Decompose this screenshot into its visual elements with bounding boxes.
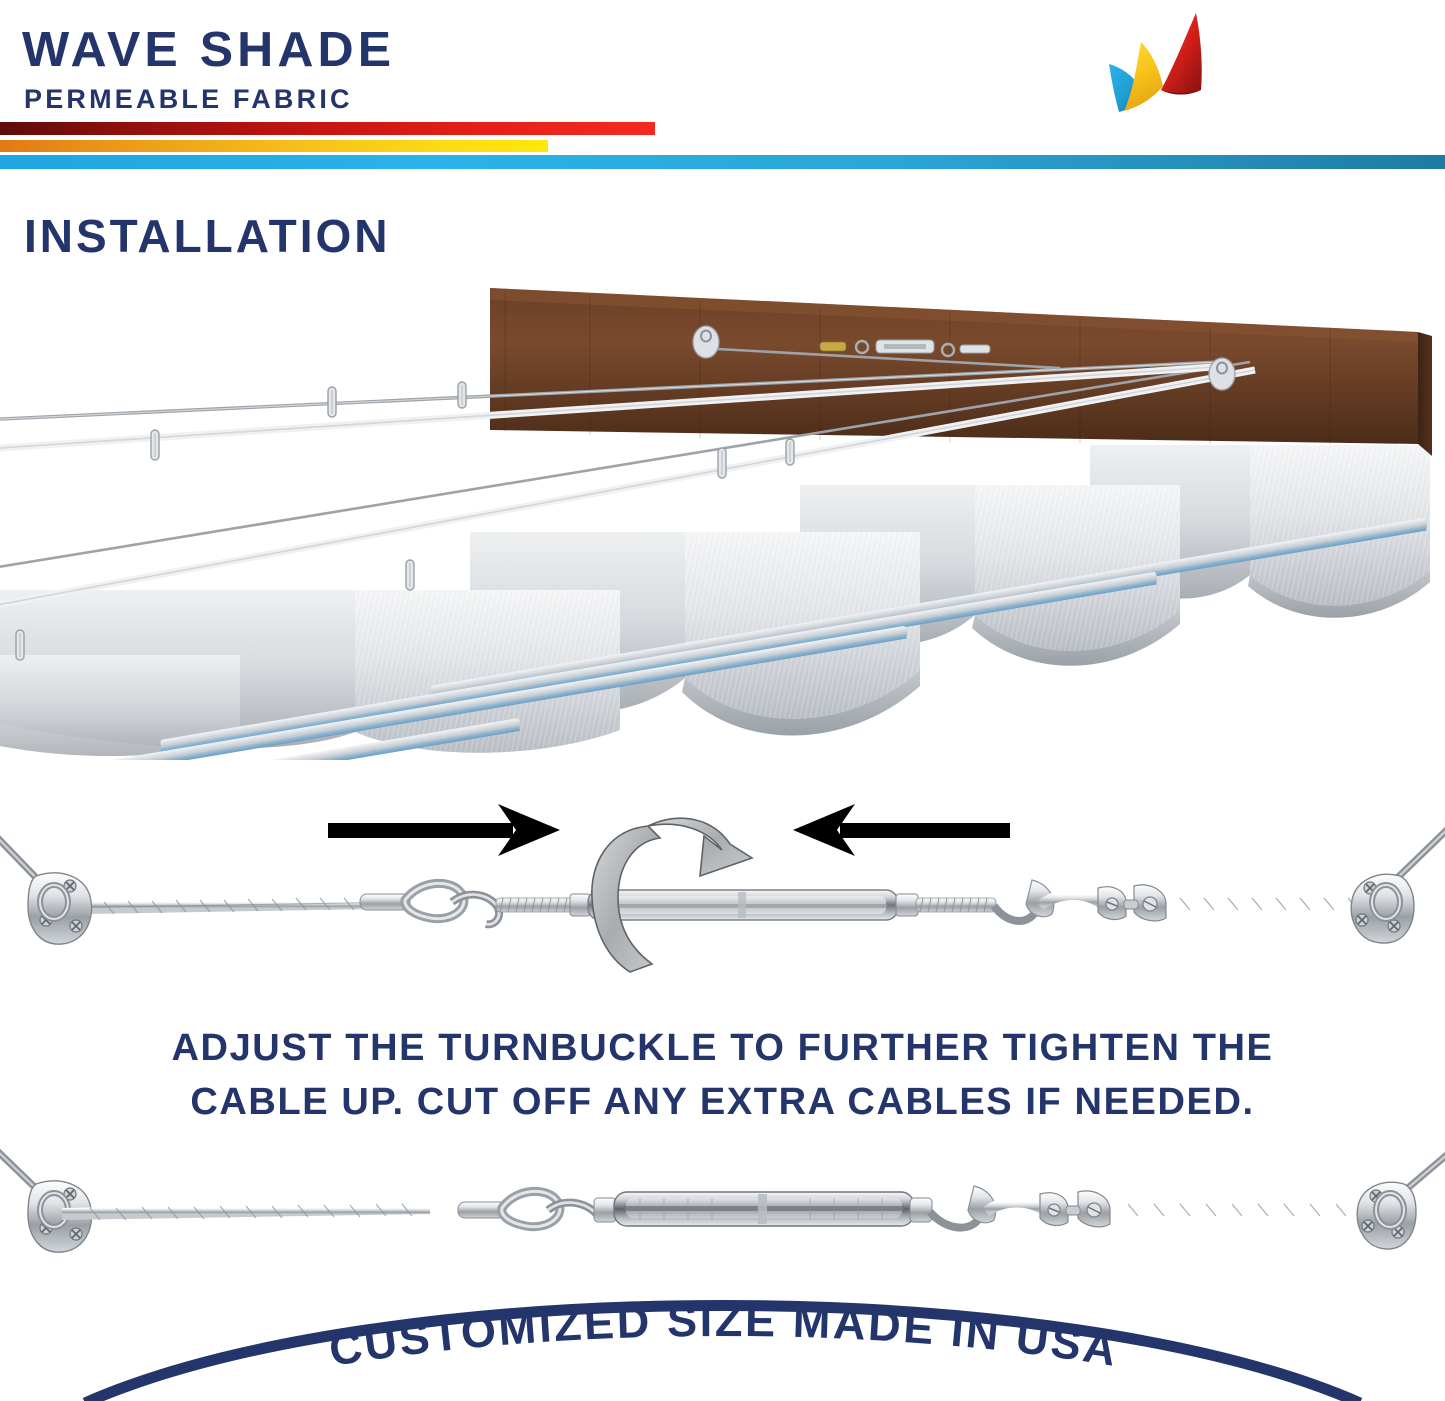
threaded-rod [896,894,996,916]
tension-arrow-right [328,804,560,856]
instruction-text: ADJUST THE TURNBUCKLE TO FURTHER TIGHTEN… [0,1022,1445,1130]
threaded-rod [496,894,590,916]
instruction-line-1: ADJUST THE TURNBUCKLE TO FURTHER TIGHTEN… [0,1022,1445,1076]
turnbuckle-body [588,890,898,920]
wire-rope-clip [1098,885,1166,921]
hex-nut [594,1198,616,1222]
eye-pad-mount [693,326,719,358]
steel-cable [60,897,400,914]
wave-sail-logo-icon [1093,8,1218,136]
accent-bar-blue [0,155,1445,169]
steel-cable [62,1204,430,1220]
eye-pad-mount-left [28,873,92,944]
turnbuckle-body [614,1192,914,1226]
brand-title: WAVE SHADE [22,26,395,75]
eye-pad-mount-right [1357,1182,1416,1249]
steel-cable [0,1144,1445,1198]
steel-cable [986,1202,1044,1212]
footer-arc-text: CUSTOMIZED SIZE MADE IN USA [326,1295,1123,1376]
footer-arc-badge: CUSTOMIZED SIZE MADE IN USA [0,1285,1445,1401]
wire-rope-clip [1040,1191,1110,1227]
wooden-mounting-beam [490,288,1432,456]
accent-bar-red [0,122,655,135]
brand-subtitle: PERMEABLE FABRIC [24,84,353,115]
accent-bar-yellow [0,140,548,152]
steel-cable [1110,1204,1386,1216]
hex-nut [910,1198,932,1222]
wave-shade-installed-render [0,270,1445,760]
turnbuckle-tension-diagram [0,780,1445,1000]
eye-pad-mount [1209,358,1235,390]
eye-pad-mount-right [1351,874,1414,943]
page-title: INSTALLATION [24,209,390,263]
tightened-cable-assembly-diagram [0,1140,1445,1290]
page-root: WAVE SHADE PERMEABLE FABRIC [0,0,1445,1401]
steel-cable [1040,895,1102,907]
steel-cable [1166,898,1380,910]
instruction-line-2: CABLE UP. CUT OFF ANY EXTRA CABLES IF NE… [0,1076,1445,1130]
tension-arrow-left [793,804,1010,856]
